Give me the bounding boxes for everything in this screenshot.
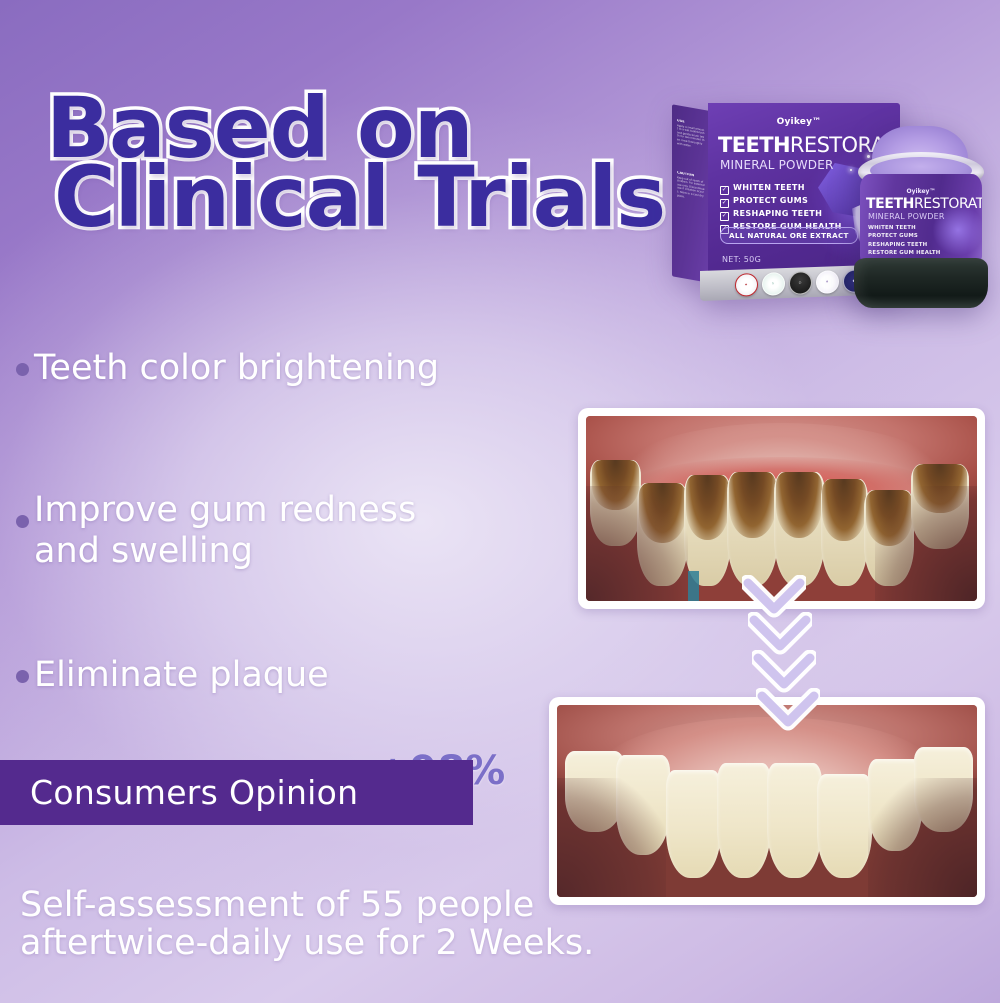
box-feature-item: ✓WHITEN TEETH [720, 181, 842, 194]
tooth-stain [686, 475, 729, 539]
side-panel-usage: USE Apply a small amount to a wet toothb… [677, 119, 705, 164]
checkbox-icon: ✓ [720, 186, 729, 195]
jar-feature-item: RESHAPING TEETH [868, 241, 940, 249]
shadow-right [868, 778, 977, 897]
side-panel-usage-body: Apply a small amount to a wet toothbrush… [677, 124, 704, 147]
tooth-shape [767, 763, 822, 878]
tooth-shape [684, 475, 731, 586]
box-feature-item: ✓RESHAPING TEETH [720, 207, 842, 220]
bullet-dot-icon [16, 515, 29, 528]
jar-product-subtitle: MINERAL POWDER [868, 212, 945, 221]
product-image-group: USE Apply a small amount to a wet toothb… [620, 88, 1000, 336]
tooth-stain [729, 472, 776, 539]
bullet-dot-icon [16, 670, 29, 683]
promo-poster: Based on Clinical Trials USE Apply a sma… [0, 0, 1000, 1003]
jar-feature-list: WHITEN TEETH PROTECT GUMS RESHAPING TEET… [868, 224, 940, 258]
jar-brand-name: Oyikey™ [860, 188, 982, 195]
box-feature-list: ✓WHITEN TEETH ✓PROTECT GUMS ✓RESHAPING T… [720, 181, 842, 233]
consumers-opinion-label: Consumers Opinion [30, 773, 358, 812]
benefit-label: Eliminate plaque [34, 655, 329, 696]
product-jar-image: Oyikey™ TEETHRESTORATION MINERAL POWDER … [848, 126, 994, 326]
jar-feature-item: RESTORE GUM HEALTH [868, 249, 940, 257]
jar-label: Oyikey™ TEETHRESTORATION MINERAL POWDER … [860, 174, 982, 266]
tooth-shape [666, 770, 721, 878]
box-net-weight: NET: 50G [722, 255, 761, 264]
tooth-stain [822, 479, 865, 541]
tooth-shape [821, 479, 868, 586]
page-title: Based on Clinical Trials [46, 92, 686, 234]
jar-feature-item: WHITEN TEETH [868, 224, 940, 232]
shadow-right [875, 486, 977, 601]
benefit-label: Improve gum redness and swelling [34, 490, 416, 572]
jar-title-light: RESTORATION [914, 196, 982, 212]
box-feature-label: PROTECT GUMS [733, 195, 808, 205]
tooth-shape [717, 763, 772, 878]
checkbox-icon: ✓ [720, 199, 729, 208]
tooth-stain [776, 472, 823, 539]
box-feature-item: ✓PROTECT GUMS [720, 194, 842, 207]
tooth-shape [727, 472, 778, 587]
dental-probe [688, 571, 700, 601]
quality-shield-badge-icon: ♺ [789, 271, 812, 295]
before-photo [586, 416, 977, 601]
tooth-shape [774, 472, 825, 587]
shadow-left [557, 778, 666, 897]
box-product-subtitle: MINERAL POWDER [720, 158, 834, 172]
side-panel-caution: CAUTION Keep out of reach of children. F… [677, 171, 705, 226]
box-tagline-badge: ALL NATURAL ORE EXTRACT [720, 227, 858, 244]
product-box-side-panel: USE Apply a small amount to a wet toothb… [672, 104, 710, 283]
consumers-opinion-banner: Consumers Opinion [0, 760, 473, 825]
side-panel-caution-body: Keep out of reach of children. For exter… [677, 176, 705, 198]
jar-feature-item: PROTECT GUMS [868, 232, 940, 240]
checkbox-icon: ✓ [720, 212, 729, 221]
dental-association-badge-icon: ⚜ [816, 270, 839, 294]
box-feature-label: RESHAPING TEETH [733, 208, 822, 218]
chevron-down-icon [756, 688, 820, 734]
tooth-shape [817, 774, 872, 878]
health-approved-badge-icon: ⚕ [762, 272, 785, 296]
usa-seal-badge-icon: ★ [735, 272, 758, 296]
box-feature-label: WHITEN TEETH [733, 182, 805, 192]
headline-line-2: Clinical Trials [54, 161, 686, 234]
bullet-dot-icon [16, 363, 29, 376]
benefit-label: Teeth color brightening [34, 348, 439, 389]
jar-base [854, 258, 988, 308]
jar-product-title: TEETHRESTORATION [866, 196, 978, 212]
jar-title-bold: TEETH [866, 196, 914, 212]
shadow-left [586, 486, 688, 601]
box-title-bold: TEETH [718, 133, 790, 157]
